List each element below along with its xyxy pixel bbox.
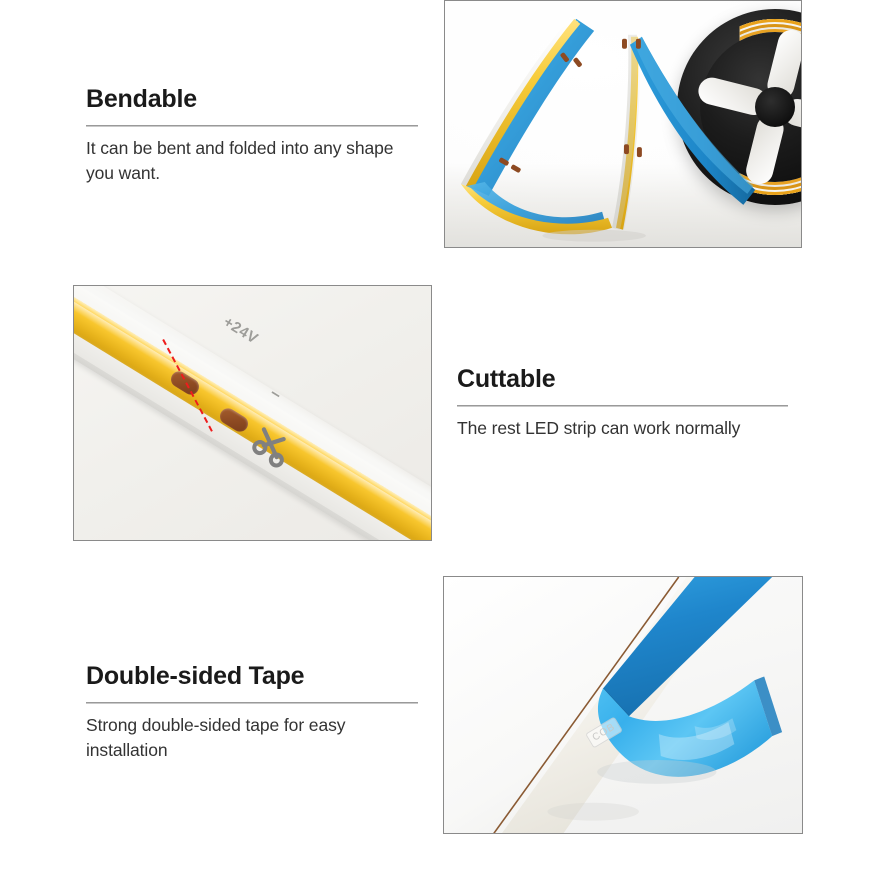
bendable-strip-illustration (445, 1, 801, 247)
photo-double-sided-tape-content: COB (444, 577, 802, 833)
feature-block-cuttable: Cuttable The rest LED strip can work nor… (457, 366, 788, 458)
film-shadow (597, 760, 716, 784)
feature-description-double-sided-tape: Strong double-sided tape for easy instal… (86, 713, 418, 764)
feature-title-cuttable: Cuttable (457, 366, 788, 394)
feature-divider-cuttable (457, 405, 788, 407)
feature-description-cuttable: The rest LED strip can work normally (457, 416, 788, 441)
feature-block-double-sided-tape: Double-sided Tape Strong double-sided ta… (86, 663, 418, 781)
photo-bendable (444, 0, 802, 248)
tape-peel-illustration (444, 577, 802, 833)
strip-shadow-middle (612, 35, 637, 230)
strip-contact-shadow (542, 230, 645, 242)
strip-blue-tape-left (467, 19, 594, 196)
feature-title-double-sided-tape: Double-sided Tape (86, 663, 418, 691)
feature-description-bendable: It can be bent and folded into any shape… (86, 136, 418, 187)
photo-bendable-content (445, 1, 801, 247)
feature-divider-bendable (86, 125, 418, 127)
strip-shadow (547, 803, 638, 821)
feature-block-bendable: Bendable It can be bent and folded into … (86, 86, 418, 204)
photo-cuttable: +24V – (73, 285, 432, 541)
feature-title-bendable: Bendable (86, 86, 418, 114)
strip-blue-highlight-right (634, 37, 753, 194)
photo-cuttable-content: +24V – (74, 286, 431, 540)
infographic-page: Bendable It can be bent and folded into … (0, 0, 875, 875)
led-strip-closeup (74, 286, 431, 540)
feature-divider-double-sided-tape (86, 702, 418, 704)
photo-double-sided-tape: COB (443, 576, 803, 834)
